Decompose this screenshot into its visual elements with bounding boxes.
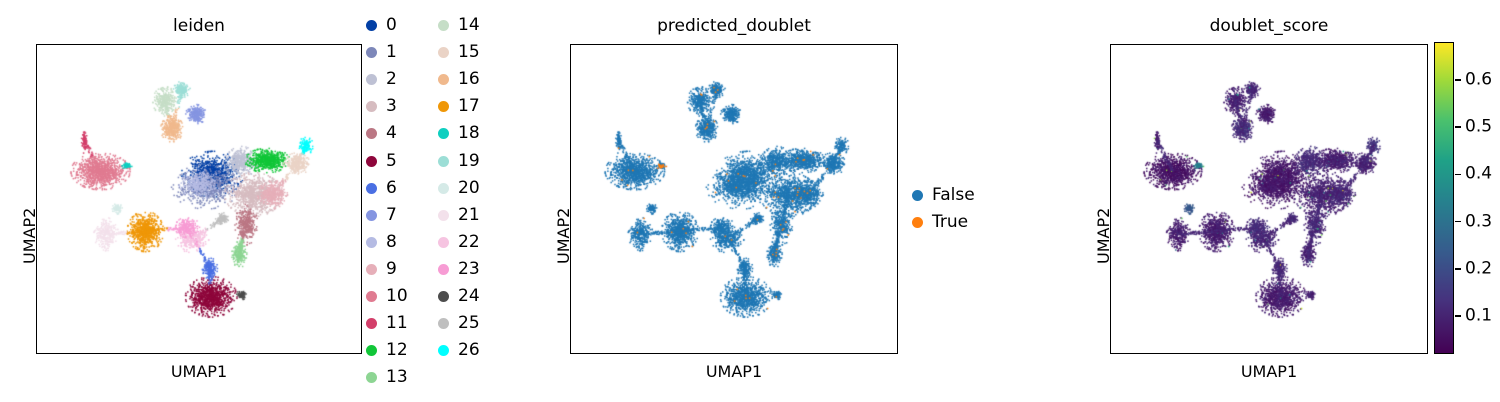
legend-label: 23 (458, 261, 480, 278)
leiden-legend-item-17[interactable]: 17 (438, 93, 480, 120)
colorbar-gradient (1434, 42, 1454, 354)
legend-label: True (932, 214, 968, 231)
leiden-legend-item-8[interactable]: 8 (366, 229, 408, 256)
colorbar-tick (1455, 79, 1461, 81)
doublet-legend-item-false[interactable]: False (912, 182, 975, 209)
legend-label: 19 (458, 153, 480, 170)
legend-label: 1 (386, 44, 397, 61)
ylabel-doublet-score: UMAP2 (1096, 208, 1112, 264)
legend-label: 3 (386, 98, 397, 115)
legend-label: 5 (386, 153, 397, 170)
legend-swatch-icon (366, 128, 377, 139)
legend-label: 10 (386, 288, 408, 305)
scatter-leiden[interactable] (37, 45, 362, 354)
colorbar-tick-label: 0.4 (1465, 166, 1492, 183)
legend-swatch-icon (912, 217, 923, 228)
leiden-legend-item-20[interactable]: 20 (438, 175, 480, 202)
legend-swatch-icon (366, 345, 377, 356)
legend-swatch-icon (438, 74, 449, 85)
leiden-legend-item-26[interactable]: 26 (438, 337, 480, 364)
panel-title-leiden: leiden (36, 18, 362, 35)
predicted-doublet-legend: FalseTrue (912, 182, 975, 236)
leiden-legend-item-23[interactable]: 23 (438, 256, 480, 283)
legend-swatch-icon (366, 183, 377, 194)
panel-title-doublet-score: doublet_score (1110, 18, 1428, 35)
legend-label: 18 (458, 125, 480, 142)
legend-label: 0 (386, 17, 397, 34)
legend-swatch-icon (366, 210, 377, 221)
scatter-predicted-doublet[interactable] (571, 45, 898, 354)
legend-swatch-icon (366, 101, 377, 112)
ylabel-leiden: UMAP2 (22, 208, 38, 264)
legend-label: 20 (458, 180, 480, 197)
legend-swatch-icon (438, 128, 449, 139)
legend-swatch-icon (366, 20, 377, 31)
legend-swatch-icon (438, 291, 449, 302)
leiden-legend: 012345678910111213 141516171819202122232… (366, 12, 556, 392)
colorbar-tick (1455, 174, 1461, 176)
colorbar-tick-label: 0.6 (1465, 71, 1492, 88)
ylabel-predicted-doublet: UMAP2 (556, 208, 572, 264)
legend-label: 7 (386, 207, 397, 224)
legend-label: 16 (458, 71, 480, 88)
leiden-legend-item-25[interactable]: 25 (438, 310, 480, 337)
colorbar-tick-label: 0.1 (1465, 308, 1492, 325)
legend-swatch-icon (366, 372, 377, 383)
legend-swatch-icon (438, 264, 449, 275)
leiden-legend-item-13[interactable]: 13 (366, 364, 408, 391)
doublet-legend-item-true[interactable]: True (912, 209, 975, 236)
leiden-legend-item-16[interactable]: 16 (438, 66, 480, 93)
leiden-legend-item-6[interactable]: 6 (366, 175, 408, 202)
legend-label: 26 (458, 342, 480, 359)
legend-label: 14 (458, 17, 480, 34)
legend-label: 21 (458, 207, 480, 224)
axes-predicted-doublet[interactable] (570, 44, 898, 354)
leiden-legend-item-0[interactable]: 0 (366, 12, 408, 39)
leiden-legend-column-2: 14151617181920212223242526 (438, 12, 480, 364)
leiden-legend-item-4[interactable]: 4 (366, 120, 408, 147)
colorbar-tick (1455, 315, 1461, 317)
legend-swatch-icon (438, 210, 449, 221)
legend-swatch-icon (366, 156, 377, 167)
legend-swatch-icon (438, 101, 449, 112)
legend-swatch-icon (438, 318, 449, 329)
leiden-legend-item-3[interactable]: 3 (366, 93, 408, 120)
legend-label: 4 (386, 125, 397, 142)
legend-swatch-icon (438, 183, 449, 194)
legend-label: 9 (386, 261, 397, 278)
legend-label: 12 (386, 342, 408, 359)
colorbar-tick (1455, 126, 1461, 128)
leiden-legend-item-11[interactable]: 11 (366, 310, 408, 337)
axes-doublet-score[interactable] (1110, 44, 1428, 354)
legend-swatch-icon (366, 291, 377, 302)
leiden-legend-column-1: 012345678910111213 (366, 12, 408, 391)
legend-swatch-icon (366, 318, 377, 329)
legend-swatch-icon (438, 345, 449, 356)
legend-swatch-icon (438, 20, 449, 31)
legend-swatch-icon (438, 156, 449, 167)
legend-label: 15 (458, 44, 480, 61)
colorbar-tick-label: 0.5 (1465, 119, 1492, 136)
legend-label: 22 (458, 234, 480, 251)
legend-swatch-icon (366, 47, 377, 58)
leiden-legend-item-1[interactable]: 1 (366, 39, 408, 66)
legend-label: False (932, 187, 975, 204)
xlabel-leiden: UMAP1 (36, 364, 362, 380)
legend-label: 24 (458, 288, 480, 305)
legend-swatch-icon (366, 74, 377, 85)
legend-label: 13 (386, 369, 408, 386)
colorbar-tick (1455, 268, 1461, 270)
leiden-legend-item-9[interactable]: 9 (366, 256, 408, 283)
leiden-legend-item-22[interactable]: 22 (438, 229, 480, 256)
legend-swatch-icon (438, 47, 449, 58)
legend-label: 2 (386, 71, 397, 88)
legend-swatch-icon (912, 190, 923, 201)
xlabel-doublet-score: UMAP1 (1110, 364, 1428, 380)
panel-title-predicted-doublet: predicted_doublet (570, 18, 898, 35)
leiden-legend-item-2[interactable]: 2 (366, 66, 408, 93)
leiden-legend-item-7[interactable]: 7 (366, 202, 408, 229)
colorbar-tick-label: 0.2 (1465, 260, 1492, 277)
doublet-score-colorbar: 0.10.20.30.40.50.6 (1434, 42, 1454, 354)
leiden-legend-item-10[interactable]: 10 (366, 283, 408, 310)
leiden-legend-item-14[interactable]: 14 (438, 12, 480, 39)
umap-figure: leiden UMAP1 UMAP2 012345678910111213 14… (0, 0, 1500, 402)
scatter-doublet-score[interactable] (1111, 45, 1428, 354)
legend-label: 8 (386, 234, 397, 251)
axes-leiden[interactable] (36, 44, 362, 354)
leiden-legend-item-5[interactable]: 5 (366, 147, 408, 174)
legend-swatch-icon (366, 264, 377, 275)
colorbar-tick (1455, 221, 1461, 223)
leiden-legend-item-18[interactable]: 18 (438, 120, 480, 147)
leiden-legend-item-19[interactable]: 19 (438, 147, 480, 174)
legend-swatch-icon (366, 237, 377, 248)
xlabel-predicted-doublet: UMAP1 (570, 364, 898, 380)
colorbar-tick-label: 0.3 (1465, 213, 1492, 230)
leiden-legend-item-12[interactable]: 12 (366, 337, 408, 364)
leiden-legend-item-21[interactable]: 21 (438, 202, 480, 229)
legend-label: 17 (458, 98, 480, 115)
legend-label: 11 (386, 315, 408, 332)
legend-swatch-icon (438, 237, 449, 248)
legend-label: 25 (458, 315, 480, 332)
leiden-legend-item-24[interactable]: 24 (438, 283, 480, 310)
leiden-legend-item-15[interactable]: 15 (438, 39, 480, 66)
legend-label: 6 (386, 180, 397, 197)
